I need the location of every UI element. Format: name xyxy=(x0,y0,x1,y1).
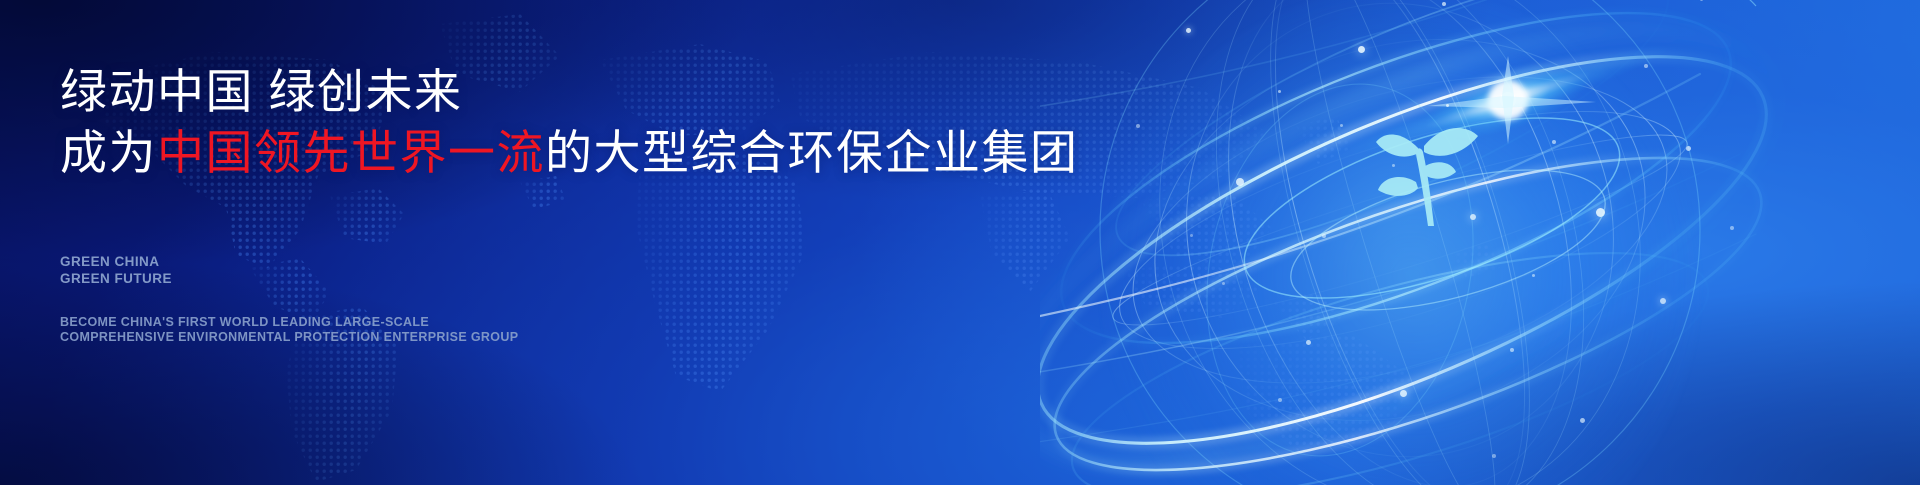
headline-prefix: 成为 xyxy=(60,126,157,179)
description-line-2: COMPREHENSIVE ENVIRONMENTAL PROTECTION E… xyxy=(60,330,1060,345)
headline-line-2: 成为中国领先世界一流的大型综合环保企业集团 xyxy=(60,123,1060,182)
tagline-line-2: GREEN FUTURE xyxy=(60,271,1060,288)
headline-suffix: 的大型综合环保企业集团 xyxy=(545,126,1079,179)
headline-line-1: 绿动中国 绿创未来 xyxy=(60,62,1060,121)
banner-copy: 绿动中国 绿创未来 成为中国领先世界一流的大型综合环保企业集团 GREEN CH… xyxy=(60,62,1060,345)
description-english: BECOME CHINA'S FIRST WORLD LEADING LARGE… xyxy=(60,315,1060,345)
headline-line-1-text: 绿动中国 绿创未来 xyxy=(60,65,463,118)
hero-banner: 绿动中国 绿创未来 成为中国领先世界一流的大型综合环保企业集团 GREEN CH… xyxy=(0,0,1920,485)
description-line-1: BECOME CHINA'S FIRST WORLD LEADING LARGE… xyxy=(60,315,1060,330)
headline-accent: 中国领先世界一流 xyxy=(157,126,545,179)
tagline-english: GREEN CHINA GREEN FUTURE xyxy=(60,254,1060,287)
tagline-line-1: GREEN CHINA xyxy=(60,254,1060,271)
